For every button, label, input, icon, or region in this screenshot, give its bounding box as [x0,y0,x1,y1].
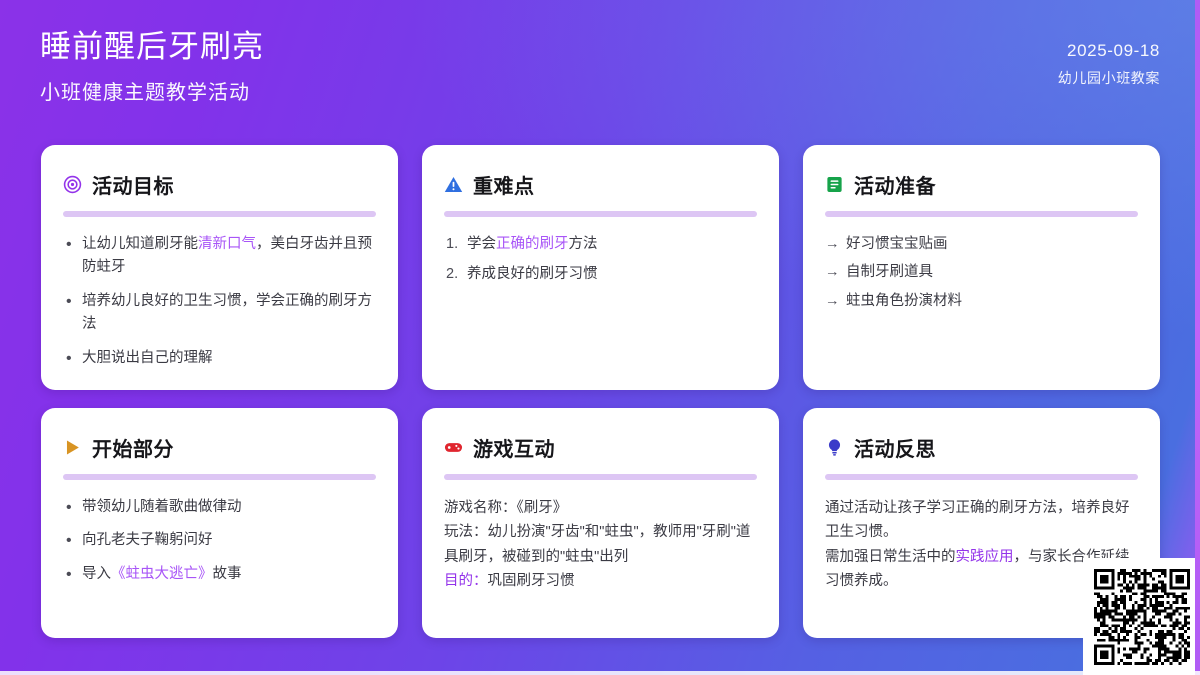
card-preparation[interactable]: 活动准备好习惯宝宝贴画自制牙刷道具蛀虫角色扮演材料 [803,145,1160,390]
text-run: 玩法：幼儿扮演"牙齿"和"蛀虫"，教师用"牙刷"道具刷牙，被碰到的"蛀虫"出列 [444,524,750,564]
card-title: 活动反思 [854,433,936,462]
gamepad-icon [444,438,463,457]
highlighted-text: 目的： [444,573,488,589]
text-run: 大胆说出自己的理解 [82,350,213,366]
text-run: 让幼儿知道刷牙能 [82,236,198,252]
right-edge-strip [1195,0,1200,675]
text-run: 自制牙刷道具 [846,264,933,280]
list-item: 培养幼儿良好的卫生习惯，学会正确的刷牙方法 [63,290,376,337]
text-run: 带领幼儿随着歌曲做律动 [82,499,242,515]
paragraph: 通过活动让孩子学习正确的刷牙方法，培养良好卫生习惯。 [825,496,1138,545]
paragraph: 玩法：幼儿扮演"牙齿"和"蛀虫"，教师用"牙刷"道具刷牙，被碰到的"蛀虫"出列 [444,520,757,569]
text-run: 蛀虫角色扮演材料 [846,293,962,309]
card-divider [825,474,1138,480]
list-item: 导入《蛀虫大逃亡》故事 [63,563,376,586]
slide-header: 睡前醒后牙刷亮 小班健康主题教学活动 [0,0,1200,128]
text-run: 好习惯宝宝贴画 [846,236,948,252]
target-icon [63,175,82,194]
text-run: 需加强日常生活中的 [825,549,956,565]
card-header: 游戏互动 [444,433,757,462]
text-run: 方法 [569,236,598,252]
list-book-icon [825,175,844,194]
card-title: 活动目标 [92,170,174,199]
qr-code-container[interactable] [1083,558,1200,675]
text-run: 养成良好的刷牙习惯 [467,266,598,282]
list-item: 向孔老夫子鞠躬问好 [63,529,376,552]
qr-code [1094,569,1190,665]
card-list: 让幼儿知道刷牙能清新口气，美白牙齿并且预防蛀牙培养幼儿良好的卫生习惯，学会正确的… [63,233,376,370]
card-header: 重难点 [444,170,757,199]
page-subtitle: 小班健康主题教学活动 [40,76,1160,105]
card-divider [63,474,376,480]
text-run: 导入 [82,566,111,582]
card-list: 好习惯宝宝贴画自制牙刷道具蛀虫角色扮演材料 [825,233,1138,313]
list-item: 带领幼儿随着歌曲做律动 [63,496,376,519]
highlighted-text: 正确的刷牙 [496,236,569,252]
card-divider [63,211,376,217]
card-list: 学会正确的刷牙方法养成良好的刷牙习惯 [444,233,757,287]
play-triangle-icon [63,438,82,457]
slide-root: 睡前醒后牙刷亮 小班健康主题教学活动 2025-09-18 幼儿园小班教案 活动… [0,0,1200,675]
card-title: 重难点 [473,170,535,199]
list-item: 蛀虫角色扮演材料 [825,290,1138,313]
card-title: 游戏互动 [473,433,555,462]
header-date: 2025-09-18 [1058,38,1160,64]
card-header: 活动目标 [63,170,376,199]
card-list: 带领幼儿随着歌曲做律动向孔老夫子鞠躬问好导入《蛀虫大逃亡》故事 [63,496,376,586]
card-key-points[interactable]: 重难点学会正确的刷牙方法养成良好的刷牙习惯 [422,145,779,390]
list-item: 大胆说出自己的理解 [63,347,376,370]
highlighted-text: 《蛀虫大逃亡》 [111,566,213,582]
list-item: 自制牙刷道具 [825,261,1138,284]
card-opening[interactable]: 开始部分带领幼儿随着歌曲做律动向孔老夫子鞠躬问好导入《蛀虫大逃亡》故事 [41,408,398,638]
text-run: 通过活动让孩子学习正确的刷牙方法，培养良好卫生习惯。 [825,500,1130,540]
list-item: 好习惯宝宝贴画 [825,233,1138,256]
text-run: 游戏名称：《刷牙》 [444,500,567,516]
card-objectives[interactable]: 活动目标让幼儿知道刷牙能清新口气，美白牙齿并且预防蛀牙培养幼儿良好的卫生习惯，学… [41,145,398,390]
text-run: 向孔老夫子鞠躬问好 [82,532,213,548]
text-run: 巩固刷牙习惯 [488,573,575,589]
card-body: 游戏名称：《刷牙》玩法：幼儿扮演"牙齿"和"蛀虫"，教师用"牙刷"道具刷牙，被碰… [444,496,757,593]
card-header: 活动准备 [825,170,1138,199]
warning-triangle-icon [444,175,463,194]
text-run: 学会 [467,236,496,252]
list-item: 让幼儿知道刷牙能清新口气，美白牙齿并且预防蛀牙 [63,233,376,280]
card-game[interactable]: 游戏互动游戏名称：《刷牙》玩法：幼儿扮演"牙齿"和"蛀虫"，教师用"牙刷"道具刷… [422,408,779,638]
text-run: 培养幼儿良好的卫生习惯，学会正确的刷牙方法 [82,293,372,332]
text-run: 故事 [213,566,242,582]
lightbulb-icon [825,438,844,457]
paragraph: 游戏名称：《刷牙》 [444,496,757,520]
card-divider [825,211,1138,217]
card-title: 活动准备 [854,170,936,199]
list-item: 养成良好的刷牙习惯 [444,263,757,286]
header-kind: 幼儿园小班教案 [1058,68,1160,89]
card-divider [444,474,757,480]
card-header: 开始部分 [63,433,376,462]
highlighted-text: 清新口气 [198,236,256,252]
card-title: 开始部分 [92,433,174,462]
highlighted-text: 实践应用 [956,549,1014,565]
card-divider [444,211,757,217]
paragraph: 目的：巩固刷牙习惯 [444,569,757,593]
page-title: 睡前醒后牙刷亮 [40,28,1160,67]
card-grid: 活动目标让幼儿知道刷牙能清新口气，美白牙齿并且预防蛀牙培养幼儿良好的卫生习惯，学… [41,145,1159,638]
card-header: 活动反思 [825,433,1138,462]
header-meta: 2025-09-18 幼儿园小班教案 [1058,38,1160,89]
bottom-edge-strip [0,671,1200,675]
list-item: 学会正确的刷牙方法 [444,233,757,256]
